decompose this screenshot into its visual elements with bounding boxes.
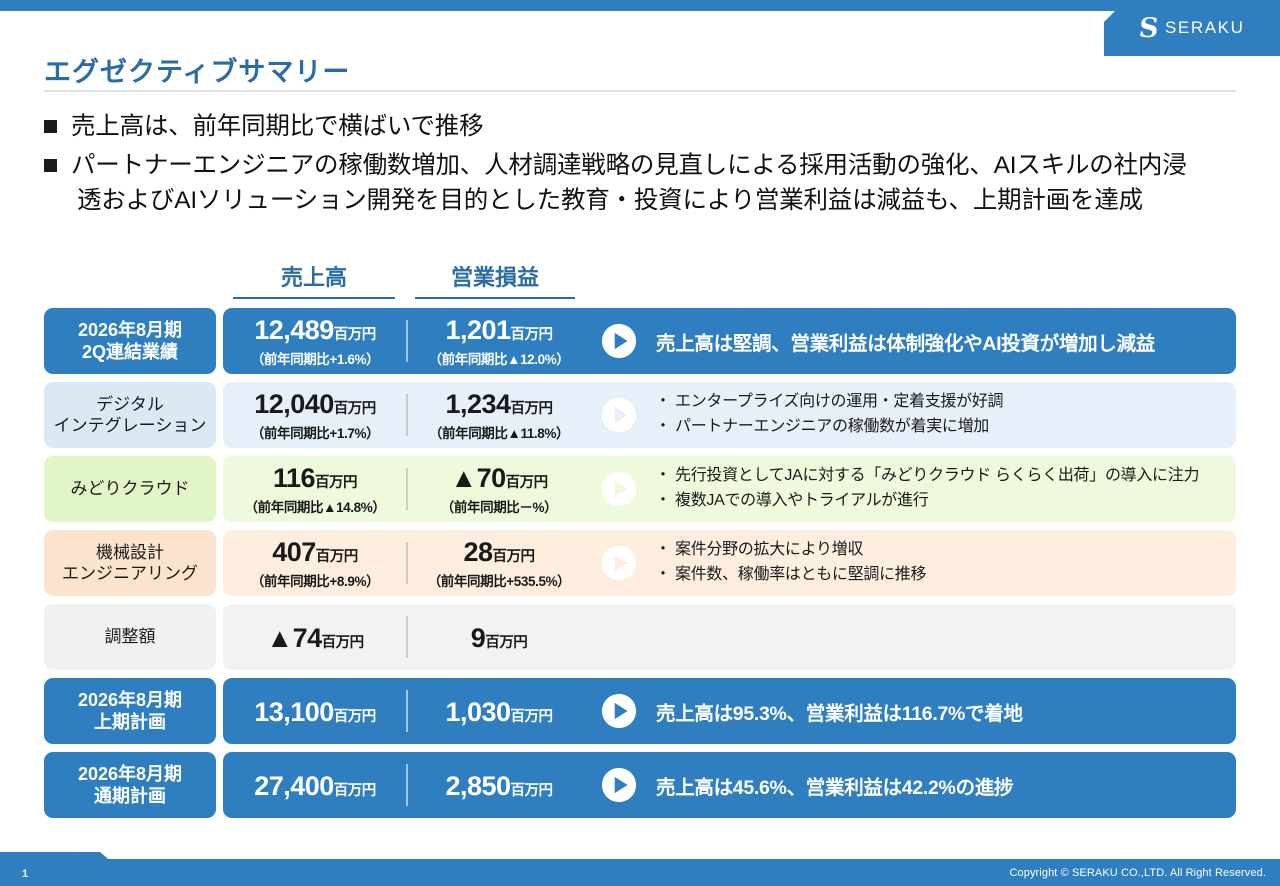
metric-unit: 百万円 [506, 475, 548, 491]
row-category-label: 2026年8月期 通期計画 [78, 763, 182, 808]
category-line-2: 2Q連結業績 [78, 341, 182, 364]
metric-subtext: （前年同期比+8.9%） [226, 570, 404, 590]
metric-unit: 百万円 [511, 709, 553, 725]
metric-revenue: 407百万円 （前年同期比+8.9%） [226, 536, 404, 589]
square-bullet-icon [44, 120, 57, 133]
metric-number: ▲70 [450, 463, 505, 493]
bullet-text: 売上高は、前年同期比で横ばいで推移 [71, 110, 483, 145]
comment-lead: 売上高は95.3%、営業利益は116.7%で着地 [656, 697, 1224, 726]
row-body: 116百万円 （前年同期比▲14.8%） ▲70百万円 （前年同期比－%） [223, 456, 1236, 522]
comment-lead: 売上高は45.6%、営業利益は42.2%の進捗 [656, 771, 1224, 800]
metric-profit: 1,234百万円 （前年同期比▲11.8%） [410, 388, 588, 441]
metric-subtext: （前年同期比▲12.0%） [410, 348, 588, 368]
metric-number: 1,234 [445, 389, 510, 419]
metric-value: 1,201百万円 [410, 316, 588, 344]
row-category: 調整額 [44, 604, 216, 670]
row-comment: 先行投資としてJAに対する「みどりクラウド らくらく出荷」の導入に注力 複数JA… [650, 464, 1236, 514]
row-body: 12,040百万円 （前年同期比+1.7%） 1,234百万円 （前年同期比▲1… [223, 382, 1236, 448]
metric-unit: 百万円 [511, 327, 553, 343]
metric-divider [406, 320, 408, 362]
table-row: 2026年8月期 2Q連結業績 12,489百万円 （前年同期比+1.6%） 1… [44, 308, 1236, 374]
row-body: ▲74百万円 9百万円 [223, 604, 1236, 670]
table-row: 機械設計 エンジニアリング 407百万円 （前年同期比+8.9%） 28百万円 … [44, 530, 1236, 596]
footer-page-tab [0, 852, 140, 886]
metric-value: 1,030百万円 [410, 698, 588, 726]
column-headers: 売上高 営業損益 [0, 260, 1280, 300]
row-body: 407百万円 （前年同期比+8.9%） 28百万円 （前年同期比+535.5%） [223, 530, 1236, 596]
seraku-wordmark: SERAKU [1165, 18, 1245, 38]
metric-unit: 百万円 [485, 635, 527, 651]
bullet-item: 売上高は、前年同期比で横ばいで推移 [44, 110, 1259, 145]
metric-unit: 百万円 [334, 783, 376, 799]
metric-value: ▲74百万円 [226, 624, 404, 652]
row-comment: 売上高は45.6%、営業利益は42.2%の進捗 [650, 771, 1236, 800]
comment-list: 先行投資としてJAに対する「みどりクラウド らくらく出荷」の導入に注力 複数JA… [656, 464, 1224, 514]
metric-number: 12,040 [254, 389, 334, 419]
row-body: 13,100百万円 1,030百万円 売上高は95.3%、営業利益は116.7%… [223, 678, 1236, 744]
slide: S SERAKU エグゼクティブサマリー 売上高は、前年同期比で横ばいで推移 パ… [0, 0, 1280, 886]
metric-revenue: 12,489百万円 （前年同期比+1.6%） [226, 314, 404, 367]
summary-bullets: 売上高は、前年同期比で横ばいで推移 パートナーエンジニアの稼働数増加、人材調達戦… [44, 110, 1259, 222]
square-bullet-icon [44, 159, 57, 172]
row-category-label: 機械設計 エンジニアリング [62, 542, 198, 585]
metric-divider [406, 690, 408, 732]
bullet-text: パートナーエンジニアの稼働数増加、人材調達戦略の見直しによる採用活動の強化、AI… [71, 149, 1187, 219]
metric-revenue: 116百万円 （前年同期比▲14.8%） [226, 462, 404, 515]
metric-unit: 百万円 [334, 327, 376, 343]
category-line-2: エンジニアリング [62, 563, 198, 584]
category-line-1: 調整額 [105, 626, 156, 647]
metric-number: 9 [471, 623, 486, 653]
metric-divider [406, 542, 408, 584]
metric-revenue: 13,100百万円 [226, 696, 404, 726]
metric-value: 1,234百万円 [410, 390, 588, 418]
column-header-revenue: 売上高 [233, 260, 395, 299]
arrow-cell [588, 396, 650, 434]
row-category: 2026年8月期 上期計画 [44, 678, 216, 744]
table-row: 調整額 ▲74百万円 9百万円 [44, 604, 1236, 670]
metric-revenue: ▲74百万円 [226, 622, 404, 652]
metric-value: 9百万円 [410, 624, 588, 652]
row-body: 27,400百万円 2,850百万円 売上高は45.6%、営業利益は42.2%の… [223, 752, 1236, 818]
bullet-item: パートナーエンジニアの稼働数増加、人材調達戦略の見直しによる採用活動の強化、AI… [44, 149, 1259, 219]
row-comment: 売上高は95.3%、営業利益は116.7%で着地 [650, 697, 1236, 726]
list-item: 案件数、稼働率はともに堅調に推移 [656, 563, 1224, 588]
metric-number: 1,201 [445, 315, 510, 345]
row-category-label: 2026年8月期 2Q連結業績 [78, 319, 182, 364]
table-row: みどりクラウド 116百万円 （前年同期比▲14.8%） ▲70百万円 （前年同… [44, 456, 1236, 522]
metric-number: 12,489 [254, 315, 334, 345]
metric-profit: 2,850百万円 [410, 770, 588, 800]
metric-value: 407百万円 [226, 538, 404, 566]
metric-unit: 百万円 [493, 549, 535, 565]
metric-subtext: （前年同期比▲14.8%） [226, 496, 404, 516]
metric-profit: ▲70百万円 （前年同期比－%） [410, 462, 588, 515]
metric-subtext: （前年同期比+1.7%） [226, 422, 404, 442]
list-item: パートナーエンジニアの稼働数が着実に増加 [656, 415, 1224, 440]
metric-value: 2,850百万円 [410, 772, 588, 800]
metric-value: 12,040百万円 [226, 390, 404, 418]
row-category-label: 調整額 [105, 626, 156, 647]
play-arrow-icon [600, 692, 638, 730]
row-comment: 売上高は堅調、営業利益は体制強化やAI投資が増加し減益 [650, 327, 1236, 356]
arrow-cell [588, 544, 650, 582]
bullet-line-2: 透およびAIソリューション開発を目的とした教育・投資により営業利益は減益も、上期… [77, 184, 1187, 219]
metric-divider [406, 468, 408, 510]
category-line-1: 2026年8月期 [78, 319, 182, 342]
metric-number: 13,100 [254, 697, 334, 727]
metric-divider [406, 394, 408, 436]
metric-unit: 百万円 [322, 635, 364, 651]
top-accent-bar [0, 0, 1280, 11]
category-line-1: 2026年8月期 [78, 689, 182, 712]
metric-profit: 9百万円 [410, 622, 588, 652]
bullet-line-1: パートナーエンジニアの稼働数増加、人材調達戦略の見直しによる採用活動の強化、AI… [71, 152, 1187, 179]
seraku-logo: S SERAKU [1104, 0, 1280, 56]
metric-subtext: （前年同期比－%） [410, 496, 588, 516]
play-arrow-icon [600, 544, 638, 582]
arrow-cell [588, 766, 650, 804]
row-body: 12,489百万円 （前年同期比+1.6%） 1,201百万円 （前年同期比▲1… [223, 308, 1236, 374]
metric-value: 28百万円 [410, 538, 588, 566]
table-row: デジタル インテグレーション 12,040百万円 （前年同期比+1.7%） 1,… [44, 382, 1236, 448]
metric-profit: 1,201百万円 （前年同期比▲12.0%） [410, 314, 588, 367]
category-line-2: 上期計画 [78, 711, 182, 734]
list-item: 先行投資としてJAに対する「みどりクラウド らくらく出荷」の導入に注力 [656, 464, 1224, 489]
metric-number: 407 [272, 537, 316, 567]
arrow-cell [588, 322, 650, 360]
row-category-label: デジタル インテグレーション [54, 394, 207, 437]
metric-unit: 百万円 [511, 783, 553, 799]
arrow-cell [588, 470, 650, 508]
metric-value: 27,400百万円 [226, 772, 404, 800]
column-header-profit: 営業損益 [415, 260, 575, 299]
page-number: 1 [22, 868, 28, 880]
row-category-label: みどりクラウド [71, 478, 190, 499]
category-line-1: 機械設計 [62, 542, 198, 563]
play-arrow-icon [600, 766, 638, 804]
play-arrow-icon [600, 396, 638, 434]
metric-profit: 28百万円 （前年同期比+535.5%） [410, 536, 588, 589]
metric-value: 13,100百万円 [226, 698, 404, 726]
metric-subtext: （前年同期比+1.6%） [226, 348, 404, 368]
title-divider [44, 90, 1236, 92]
metric-subtext: （前年同期比+535.5%） [410, 570, 588, 590]
metric-unit: 百万円 [511, 401, 553, 417]
metric-unit: 百万円 [334, 709, 376, 725]
results-table: 2026年8月期 2Q連結業績 12,489百万円 （前年同期比+1.6%） 1… [44, 308, 1236, 826]
metric-number: 28 [463, 537, 492, 567]
metric-divider [406, 616, 408, 658]
row-category-label: 2026年8月期 上期計画 [78, 689, 182, 734]
category-line-1: 2026年8月期 [78, 763, 182, 786]
metric-unit: 百万円 [316, 549, 358, 565]
play-arrow-icon [600, 470, 638, 508]
metric-number: 116 [273, 463, 315, 493]
metric-divider [406, 764, 408, 806]
row-category: 2026年8月期 通期計画 [44, 752, 216, 818]
bullet-line-1: 売上高は、前年同期比で横ばいで推移 [71, 113, 483, 140]
comment-list: エンタープライズ向けの運用・定着支援が好調 パートナーエンジニアの稼働数が着実に… [656, 390, 1224, 440]
row-comment: 案件分野の拡大により増収 案件数、稼働率はともに堅調に推移 [650, 538, 1236, 588]
metric-number: ▲74 [266, 623, 321, 653]
metric-value: 116百万円 [226, 464, 404, 492]
category-line-2: 通期計画 [78, 785, 182, 808]
copyright-text: Copyright © SERAKU CO.,LTD. All Right Re… [1009, 867, 1266, 879]
table-row: 2026年8月期 通期計画 27,400百万円 2,850百万円 [44, 752, 1236, 818]
play-arrow-icon [600, 322, 638, 360]
arrow-cell [588, 692, 650, 730]
metric-unit: 百万円 [315, 475, 357, 491]
category-line-1: デジタル [54, 394, 207, 415]
metric-number: 1,030 [445, 697, 510, 727]
metric-value: 12,489百万円 [226, 316, 404, 344]
metric-number: 27,400 [254, 771, 334, 801]
category-line-2: インテグレーション [54, 415, 207, 436]
row-category: 機械設計 エンジニアリング [44, 530, 216, 596]
seraku-s-mark-icon: S [1138, 15, 1159, 42]
list-item: エンタープライズ向けの運用・定着支援が好調 [656, 390, 1224, 415]
metric-value: ▲70百万円 [410, 464, 588, 492]
metric-revenue: 12,040百万円 （前年同期比+1.7%） [226, 388, 404, 441]
metric-unit: 百万円 [334, 401, 376, 417]
row-category: 2026年8月期 2Q連結業績 [44, 308, 216, 374]
table-row: 2026年8月期 上期計画 13,100百万円 1,030百万円 [44, 678, 1236, 744]
category-line-1: みどりクラウド [71, 478, 190, 499]
comment-lead: 売上高は堅調、営業利益は体制強化やAI投資が増加し減益 [656, 327, 1224, 356]
row-comment: エンタープライズ向けの運用・定着支援が好調 パートナーエンジニアの稼働数が着実に… [650, 390, 1236, 440]
row-category: デジタル インテグレーション [44, 382, 216, 448]
metric-profit: 1,030百万円 [410, 696, 588, 726]
row-category: みどりクラウド [44, 456, 216, 522]
comment-list: 案件分野の拡大により増収 案件数、稼働率はともに堅調に推移 [656, 538, 1224, 588]
slide-footer: 1 Copyright © SERAKU CO.,LTD. All Right … [0, 852, 1280, 886]
list-item: 複数JAでの導入やトライアルが進行 [656, 489, 1224, 514]
metric-number: 2,850 [445, 771, 510, 801]
page-title: エグゼクティブサマリー [44, 50, 350, 89]
list-item: 案件分野の拡大により増収 [656, 538, 1224, 563]
metric-subtext: （前年同期比▲11.8%） [410, 422, 588, 442]
metric-revenue: 27,400百万円 [226, 770, 404, 800]
